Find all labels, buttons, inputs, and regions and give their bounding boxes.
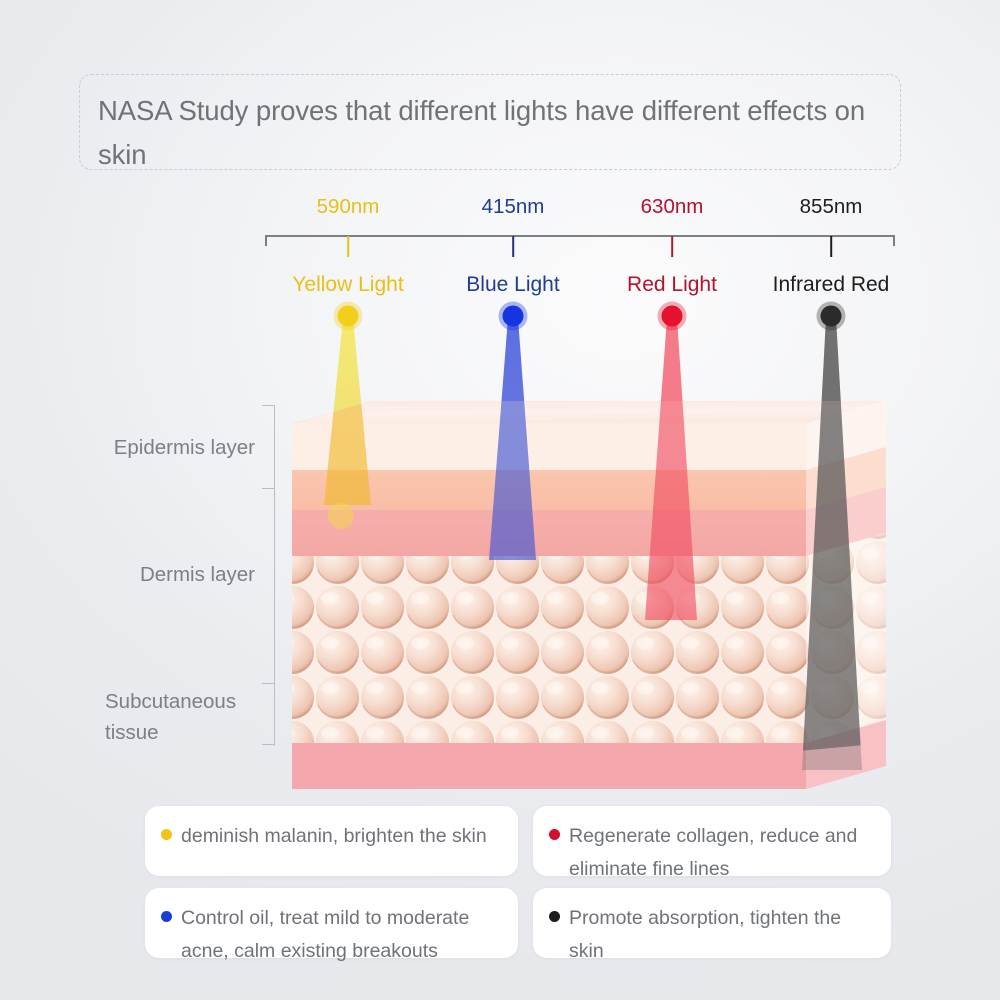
layer-label-dermis: Dermis layer <box>60 559 255 590</box>
emitter-dot-infrared <box>821 306 842 327</box>
benefit-text-red: Regenerate collagen, reduce and eliminat… <box>569 820 875 886</box>
benefit-card-infrared[interactable]: Promote absorption, tighten the skin <box>533 888 891 958</box>
bracket-arm-bottom <box>262 744 275 745</box>
layer-label-subcutaneous: Subcutaneous tissue <box>40 686 255 748</box>
bracket-arm-top <box>262 405 275 406</box>
benefit-text-yellow: deminish malanin, brighten the skin <box>181 820 487 853</box>
layer-label-epidermis: Epidermis layer <box>60 432 255 463</box>
bracket-arm-epidermis <box>262 488 275 489</box>
benefit-text-infrared: Promote absorption, tighten the skin <box>569 902 875 968</box>
benefit-text-blue: Control oil, treat mild to moderate acne… <box>181 902 502 968</box>
bullet-icon-red <box>549 829 560 840</box>
bullet-icon-infrared <box>549 911 560 922</box>
bullet-icon-yellow <box>161 829 172 840</box>
emitter-dot-yellow <box>338 306 359 327</box>
bracket-arm-dermis <box>262 683 275 684</box>
benefit-card-yellow[interactable]: deminish malanin, brighten the skin <box>145 806 518 876</box>
emitter-dot-blue <box>503 306 524 327</box>
infographic-canvas: NASA Study proves that different lights … <box>0 0 1000 1000</box>
bullet-icon-blue <box>161 911 172 922</box>
bracket-spine <box>274 405 275 746</box>
benefit-card-blue[interactable]: Control oil, treat mild to moderate acne… <box>145 888 518 958</box>
benefits-legend: deminish malanin, brighten the skin Rege… <box>0 806 1000 966</box>
emitter-dot-red <box>662 306 683 327</box>
skin-layer-bracket <box>262 405 276 746</box>
benefit-card-red[interactable]: Regenerate collagen, reduce and eliminat… <box>533 806 891 876</box>
